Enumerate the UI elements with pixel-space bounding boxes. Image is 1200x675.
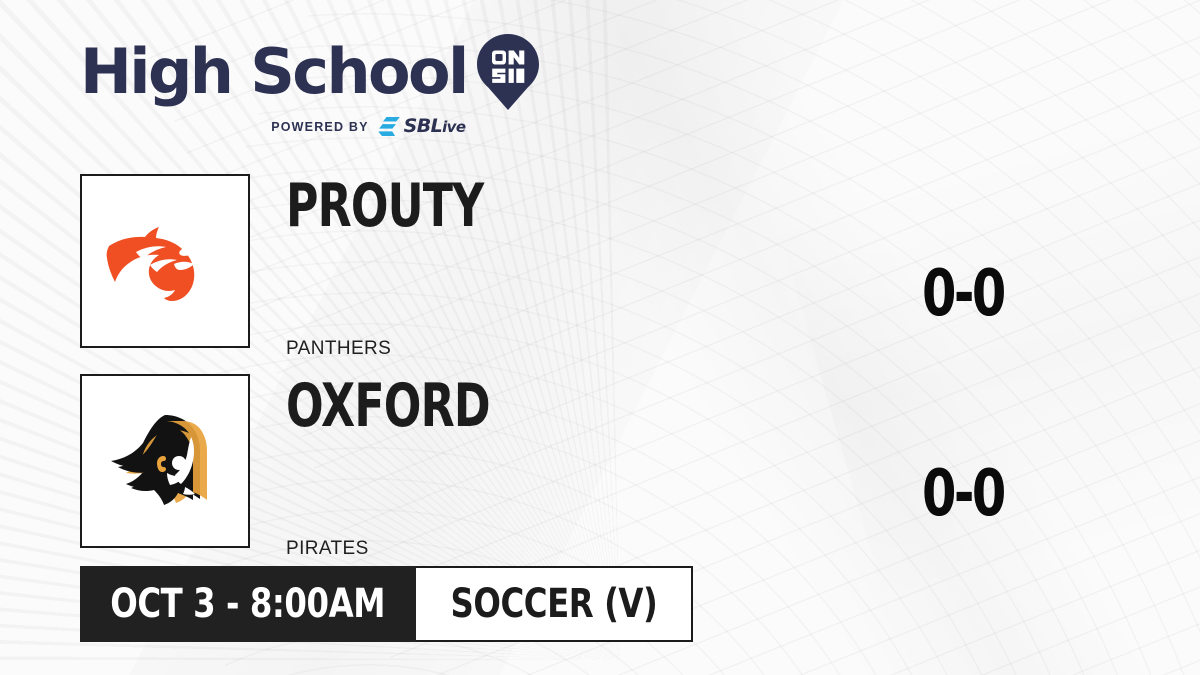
game-sport-block: SOCCER (V) bbox=[416, 566, 693, 642]
away-logo-frame bbox=[80, 174, 250, 348]
away-team-logo-box bbox=[80, 174, 250, 348]
away-team-name: PROUTY bbox=[286, 176, 483, 236]
game-datetime-block: OCT 3 - 8:00AM bbox=[80, 566, 416, 642]
game-datetime-text: OCT 3 - 8:00AM bbox=[111, 584, 386, 624]
scoreboard-graphic: High School POWERED BY bbox=[0, 0, 1200, 675]
home-logo-frame bbox=[80, 374, 250, 548]
sblive-wordmark: SBLive bbox=[404, 117, 466, 136]
pirate-head-logo-icon bbox=[107, 411, 223, 511]
away-team-mascot: PANTHERS bbox=[286, 339, 391, 358]
home-team-logo-box bbox=[80, 374, 250, 548]
powered-by-label: POWERED BY bbox=[271, 120, 368, 134]
home-team-name: OXFORD bbox=[286, 376, 490, 436]
away-team-score: 0-0 bbox=[922, 262, 1004, 326]
panther-head-logo-icon bbox=[106, 218, 224, 304]
game-info-banner: OCT 3 - 8:00AM SOCCER (V) bbox=[80, 566, 693, 642]
brand-title: High School bbox=[80, 41, 467, 103]
powered-by-sblive: POWERED BY SBLive bbox=[198, 117, 539, 136]
sblive-s-mark-icon bbox=[378, 117, 401, 136]
sblive-logo: SBLive bbox=[378, 117, 466, 136]
high-school-on-si-logo: High School bbox=[80, 34, 539, 110]
brand-header: High School POWERED BY bbox=[80, 34, 539, 136]
game-sport-text: SOCCER (V) bbox=[450, 584, 657, 624]
home-team-mascot: PIRATES bbox=[286, 539, 369, 558]
on-si-pin-icon bbox=[477, 34, 539, 110]
home-team-score: 0-0 bbox=[922, 462, 1004, 526]
